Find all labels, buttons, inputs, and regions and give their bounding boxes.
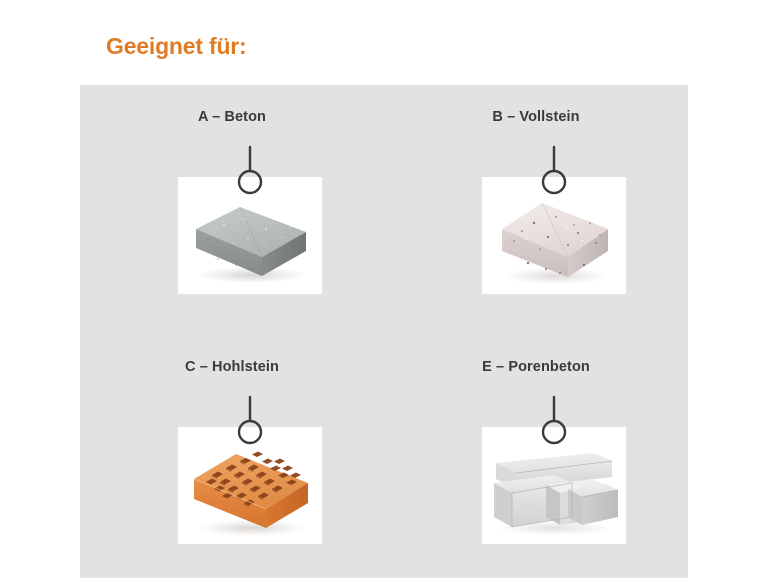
- materials-panel: A – Beton: [80, 85, 688, 578]
- material-image-beton: [178, 177, 322, 294]
- material-label-porenbeton: E – Porenbeton: [384, 359, 688, 375]
- page-title: Geeignet für:: [106, 33, 247, 60]
- material-item-porenbeton[interactable]: E – Porenbeton: [384, 335, 688, 581]
- material-item-hohlstein[interactable]: C – Hohlstein: [80, 335, 384, 581]
- material-item-beton[interactable]: A – Beton: [80, 85, 384, 331]
- page-root: Geeignet für: A – Beton: [0, 0, 770, 578]
- material-label-vollstein: B – Vollstein: [384, 109, 688, 125]
- material-image-vollstein: [482, 177, 626, 294]
- material-item-vollstein[interactable]: B – Vollstein: [384, 85, 688, 331]
- material-image-porenbeton: [482, 427, 626, 544]
- materials-grid: A – Beton: [80, 85, 688, 578]
- material-label-beton: A – Beton: [80, 109, 384, 125]
- material-label-hohlstein: C – Hohlstein: [80, 359, 384, 375]
- material-image-hohlstein: [178, 427, 322, 544]
